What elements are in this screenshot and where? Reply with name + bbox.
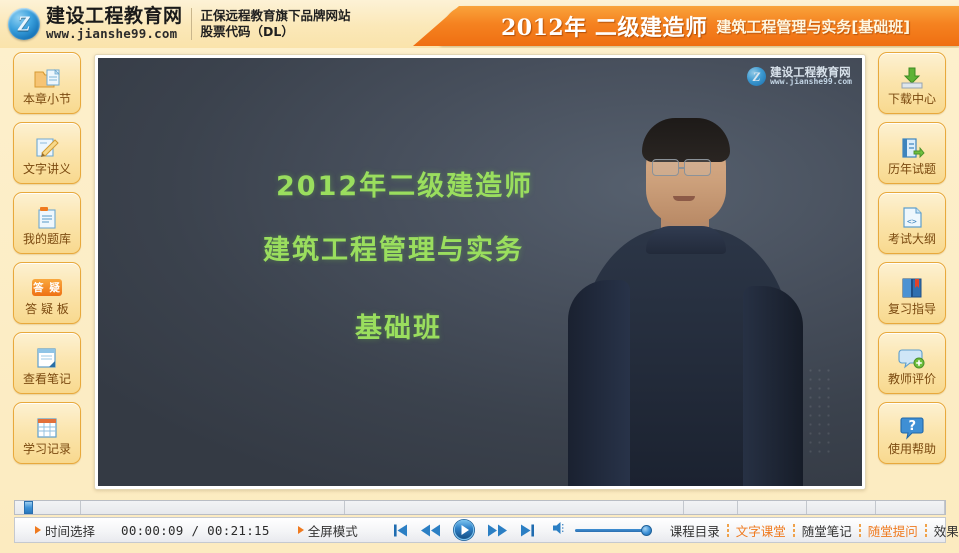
sidebar-item-review-guide[interactable]: 复习指导 xyxy=(878,262,946,324)
progress-segment[interactable] xyxy=(876,501,945,514)
sidebar-item-label: 文字讲义 xyxy=(23,163,71,175)
sidebar-item-label: 下载中心 xyxy=(888,93,936,105)
speech-bubble-plus-icon xyxy=(897,344,927,372)
play-icon[interactable] xyxy=(452,518,476,542)
answer-badge-icon: 答 疑 xyxy=(32,274,62,302)
right-sidebar: 下载中心 历年试题 <> 考试 xyxy=(868,52,956,464)
tab-class-notes[interactable]: 随堂笔记 xyxy=(795,521,859,540)
time-select-button[interactable]: 时间选择 xyxy=(35,521,95,540)
sidebar-item-view-notes[interactable]: 查看笔记 xyxy=(13,332,81,394)
sidebar-item-exam-syllabus[interactable]: <> 考试大纲 xyxy=(878,192,946,254)
time-display: 00:00:09 / 00:21:15 xyxy=(121,523,270,538)
sidebar-item-label: 本章小节 xyxy=(23,93,71,105)
course-year-title: 2012年 二级建造师 xyxy=(501,10,707,42)
sidebar-item-label: 历年试题 xyxy=(888,163,936,175)
brand-name: 建设工程教育网 xyxy=(46,7,183,27)
svg-text:<>: <> xyxy=(907,217,917,226)
triangle-right-icon xyxy=(35,526,41,534)
slide-line-2: 建筑工程管理与实务 xyxy=(263,228,524,267)
tab-text-classroom[interactable]: 文字课堂 xyxy=(729,521,793,540)
skip-forward-icon[interactable] xyxy=(519,522,536,539)
teacher-glasses-bridge xyxy=(679,167,685,169)
sidebar-item-chapter-summary[interactable]: 本章小节 xyxy=(13,52,81,114)
fullscreen-mode-label: 全屏模式 xyxy=(308,521,358,540)
sidebar-item-label: 答 疑 板 xyxy=(25,303,69,315)
triangle-right-icon xyxy=(298,526,304,534)
watermark-url: www.jianshe99.com xyxy=(770,78,852,86)
progress-handle[interactable] xyxy=(24,501,33,514)
book-arrow-icon xyxy=(897,134,927,162)
sidebar-item-past-exams[interactable]: 历年试题 xyxy=(878,122,946,184)
site-brand[interactable]: 建设工程教育网 www.jianshe99.com 正保远程教育旗下品牌网站 股… xyxy=(8,5,351,43)
time-select-label: 时间选择 xyxy=(45,521,95,540)
teacher-glasses-left xyxy=(652,159,679,176)
brand-subtitle-line2: 股票代码（DL） xyxy=(201,24,351,40)
sidebar-item-teacher-review[interactable]: 教师评价 xyxy=(878,332,946,394)
volume-slider-knob[interactable] xyxy=(641,525,652,536)
speaker-icon[interactable] xyxy=(552,520,569,541)
video-panel[interactable]: 2012年二级建造师 建筑工程管理与实务 基础班 建设工程教 xyxy=(94,54,866,490)
left-sidebar: 本章小节 文字讲义 xyxy=(3,52,91,464)
teacher-hair xyxy=(642,118,730,162)
sidebar-item-download-center[interactable]: 下载中心 xyxy=(878,52,946,114)
clipboard-note-icon xyxy=(32,344,62,372)
sidebar-item-my-question-bank[interactable]: 我的题库 xyxy=(13,192,81,254)
document-code-icon: <> xyxy=(897,204,927,232)
transport-controls xyxy=(392,518,536,542)
teacher-collar xyxy=(646,226,726,254)
teacher-figure xyxy=(568,81,803,486)
brand-subtitle-line1: 正保远程教育旗下品牌网站 xyxy=(201,8,351,24)
progress-segment[interactable] xyxy=(81,501,345,514)
sidebar-item-label: 复习指导 xyxy=(888,303,936,315)
page-header: 建设工程教育网 www.jianshe99.com 正保远程教育旗下品牌网站 股… xyxy=(0,0,959,48)
brand-subtitle-group: 正保远程教育旗下品牌网站 股票代码（DL） xyxy=(201,8,351,39)
tab-effect-switch[interactable]: 效果切换 xyxy=(927,521,959,540)
brand-url: www.jianshe99.com xyxy=(46,27,183,40)
player-control-bar: 时间选择 00:00:09 / 00:21:15 全屏模式 xyxy=(14,517,946,543)
player-tabs: 课程目录 文字课堂 随堂笔记 随堂提问 效果切换 xyxy=(663,521,959,540)
calendar-record-icon xyxy=(32,414,62,442)
progress-segment[interactable] xyxy=(684,501,738,514)
watermark-text-group: 建设工程教育网 www.jianshe99.com xyxy=(770,66,852,86)
pencil-note-icon xyxy=(32,134,62,162)
volume-slider-track[interactable] xyxy=(575,529,647,532)
svg-text:?: ? xyxy=(909,419,917,434)
z-circle-logo-icon xyxy=(8,8,40,40)
slide-line-1: 2012年二级建造师 xyxy=(276,164,533,203)
video-progress-bar[interactable] xyxy=(14,500,946,515)
teacher-right-shoulder xyxy=(743,286,803,486)
brand-divider xyxy=(191,8,192,40)
watermark-z-logo-icon xyxy=(747,67,766,86)
course-title-banner: 2012年 二级建造师 建筑工程管理与实务[基础班] xyxy=(439,6,959,46)
volume-control[interactable] xyxy=(552,520,647,541)
question-bank-icon xyxy=(32,204,62,232)
sidebar-item-answer-board[interactable]: 答 疑 答 疑 板 xyxy=(13,262,81,324)
course-player-window: 建设工程教育网 www.jianshe99.com 正保远程教育旗下品牌网站 股… xyxy=(0,0,959,553)
teacher-left-shoulder xyxy=(568,280,630,486)
video-watermark: 建设工程教育网 www.jianshe99.com xyxy=(747,66,852,86)
skip-back-icon[interactable] xyxy=(392,522,409,539)
sidebar-item-help[interactable]: ? 使用帮助 xyxy=(878,402,946,464)
slide-line-3: 基础班 xyxy=(355,306,442,345)
sidebar-item-label: 教师评价 xyxy=(888,373,936,385)
answer-badge-text: 答 疑 xyxy=(32,279,62,296)
sidebar-item-label: 学习记录 xyxy=(23,443,71,455)
progress-segment[interactable] xyxy=(738,501,807,514)
progress-segment[interactable] xyxy=(807,501,876,514)
download-arrow-icon xyxy=(897,64,927,92)
teacher-mouth xyxy=(673,196,695,201)
sidebar-item-text-lecture[interactable]: 文字讲义 xyxy=(13,122,81,184)
course-subject-title: 建筑工程管理与实务[基础班] xyxy=(716,16,910,37)
bookmark-book-icon xyxy=(897,274,927,302)
sidebar-item-label: 考试大纲 xyxy=(888,233,936,245)
folder-document-icon xyxy=(32,64,62,92)
sidebar-item-label: 使用帮助 xyxy=(888,443,936,455)
tab-class-question[interactable]: 随堂提问 xyxy=(861,521,925,540)
fast-forward-icon[interactable] xyxy=(487,522,508,539)
help-question-bubble-icon: ? xyxy=(897,414,927,442)
sidebar-item-study-record[interactable]: 学习记录 xyxy=(13,402,81,464)
rewind-icon[interactable] xyxy=(420,522,441,539)
progress-segment[interactable] xyxy=(345,501,684,514)
tab-course-catalog[interactable]: 课程目录 xyxy=(663,521,727,540)
sidebar-item-label: 查看笔记 xyxy=(23,373,71,385)
sidebar-item-label: 我的题库 xyxy=(23,233,71,245)
brand-text-group: 建设工程教育网 www.jianshe99.com xyxy=(46,7,183,40)
progress-segment[interactable] xyxy=(33,501,81,514)
video-stage[interactable]: 2012年二级建造师 建筑工程管理与实务 基础班 建设工程教 xyxy=(98,58,862,486)
fullscreen-mode-button[interactable]: 全屏模式 xyxy=(298,521,358,540)
teacher-glasses-right xyxy=(684,159,711,176)
